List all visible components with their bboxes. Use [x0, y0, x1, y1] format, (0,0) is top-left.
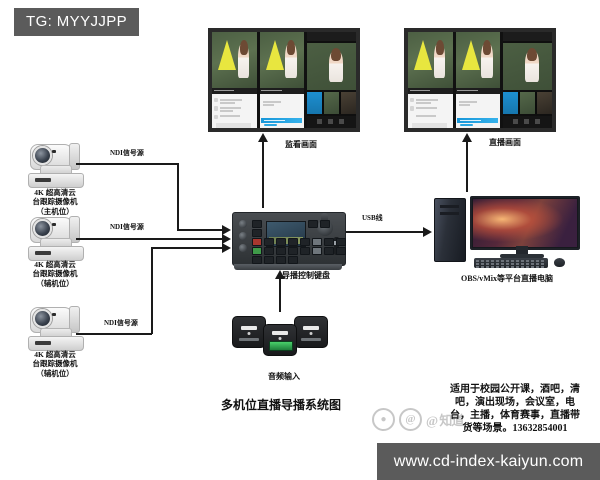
camera-main: [22, 142, 86, 188]
tg-tag-badge: TG: MYYJJPP: [14, 8, 139, 36]
preview-wall-left-cols: [212, 32, 304, 128]
pc-tower: [434, 198, 466, 262]
mic-receiver: [263, 324, 297, 356]
switcher-button[interactable]: [276, 256, 286, 264]
doc-line: [416, 102, 431, 104]
pane-bottom-bar: [307, 116, 356, 128]
switcher-button[interactable]: [288, 256, 298, 264]
switcher-button-row-5[interactable]: [252, 256, 298, 264]
yellow-triangle-graphic: [462, 40, 480, 70]
switcher-button[interactable]: [308, 220, 318, 228]
switcher-button[interactable]: [264, 256, 274, 264]
presenter-figure: [525, 50, 540, 82]
switcher-knob: [239, 232, 247, 240]
pane-document-area: [260, 94, 305, 128]
usb-line: [346, 231, 424, 233]
switcher-program-button[interactable]: [252, 238, 262, 246]
yellow-triangle-graphic: [218, 40, 236, 70]
broadcast-control-keyboard: [232, 208, 344, 270]
switcher-button[interactable]: [300, 238, 310, 246]
presenter-figure: [481, 43, 493, 78]
camera-base: [28, 173, 84, 188]
doc-line: [220, 107, 241, 109]
pane-blue-banner: [261, 118, 302, 123]
mic-brand-plate: [303, 326, 319, 330]
pane-thumbnail-strip: [503, 92, 552, 113]
switcher-preview-button[interactable]: [252, 247, 262, 255]
mic-display-window: [269, 341, 293, 351]
diagram-canvas: TG: MYYJJPP: [0, 0, 600, 480]
doc-line: [220, 110, 233, 112]
camera-base: [28, 336, 84, 351]
switcher-button-row-2[interactable]: [252, 229, 262, 237]
presenter-figure: [434, 43, 446, 78]
mic-strip: [239, 338, 259, 341]
pane-top-bar: [307, 32, 356, 41]
pane-main-video: [307, 43, 356, 91]
at-symbol-icon: @: [399, 408, 422, 431]
doc-line: [220, 102, 235, 104]
doc-line: [220, 99, 242, 101]
baidu-watermark: ● @ @ 知道: [372, 404, 476, 434]
camera-base: [28, 246, 84, 261]
mic-brand-plate: [241, 326, 257, 330]
switcher-button[interactable]: [312, 247, 322, 255]
usb-link-label: USB线: [362, 213, 383, 223]
thumb-dark: [537, 92, 552, 113]
doc-line: [459, 104, 470, 106]
preview-feed-line: [262, 140, 264, 208]
switcher-button[interactable]: [276, 247, 286, 255]
camera-lens-icon: [33, 146, 52, 165]
pane-bottom-bar: [503, 116, 552, 128]
pane-document-area: [408, 94, 453, 128]
live-feed-line: [466, 140, 468, 192]
pane-top-bar: [503, 32, 552, 41]
preview-pane-1: [212, 32, 257, 128]
pane-video-area: [456, 32, 501, 88]
pc-mouse: [554, 258, 565, 267]
thumb-blue: [503, 92, 518, 113]
pane-main-video: [503, 43, 552, 91]
switcher-button[interactable]: [252, 229, 262, 237]
doc-line: [263, 101, 281, 103]
pane-playback-bar: [456, 88, 501, 95]
ndi-line-3-v: [151, 248, 153, 334]
baidu-watermark-text: @ 知道: [426, 410, 463, 429]
presenter-figure: [238, 43, 250, 78]
mic-right: [294, 316, 328, 348]
footer-note-line-1: 适用于校园公开课，酒吧，清: [432, 384, 598, 397]
pane-video-area: [212, 32, 257, 88]
switcher-button[interactable]: [288, 238, 298, 246]
pane-document-area: [456, 94, 501, 128]
live-pane-2: [456, 32, 501, 128]
baidu-paw-icon: ●: [372, 408, 395, 431]
camera-led-icon: [52, 313, 56, 316]
preview-pane-2: [260, 32, 305, 128]
yellow-triangle-graphic: [266, 40, 284, 70]
ndi-link-label-3: NDI信号源: [104, 318, 138, 328]
streaming-computer-label: OBS/vMix等平台直播电脑: [436, 274, 578, 284]
ndi-line-1-v: [177, 163, 179, 230]
keyboard-row: [476, 260, 546, 262]
camera-main-label: 4K 超高清云 台跟踪摄像机 （主机位）: [8, 188, 102, 216]
switcher-button-row-top[interactable]: [308, 220, 330, 228]
camera-sub-2-label: 4K 超高清云 台跟踪摄像机 （辅机位）: [8, 350, 102, 378]
pane-playback-bar: [212, 88, 257, 95]
switcher-button[interactable]: [336, 238, 346, 246]
yellow-triangle-graphic: [414, 40, 432, 70]
doc-line: [220, 115, 240, 117]
preview-feed-arrow: [258, 133, 268, 142]
camera-led-icon: [52, 150, 56, 153]
doc-thumb: [214, 115, 218, 119]
presenter-figure: [285, 43, 297, 78]
preview-wall-grid: [212, 32, 356, 128]
doc-thumb: [214, 98, 218, 102]
switcher-base: [234, 264, 342, 270]
pane-playback-bar: [260, 88, 305, 95]
preview-monitor-label: 监看画面: [266, 140, 336, 150]
doc-line: [459, 101, 477, 103]
switcher-button[interactable]: [276, 238, 286, 246]
pc-monitor: [470, 196, 580, 250]
doc-thumb: [214, 106, 218, 110]
streaming-computer: [430, 192, 580, 270]
thumb-blue: [307, 92, 322, 113]
camera-lens-icon: [33, 219, 52, 238]
switcher-button[interactable]: [312, 238, 322, 246]
cloud-logo-icon: [264, 124, 277, 126]
pc-monitor-wallpaper: [473, 199, 577, 247]
ndi-line-2-h: [76, 238, 223, 240]
thumb-dark: [341, 92, 356, 113]
doc-footer: [216, 123, 251, 128]
camera-sub-2: [22, 305, 86, 351]
doc-line: [416, 107, 437, 109]
camera-led-icon: [52, 223, 56, 226]
switcher-button-row-4[interactable]: [252, 247, 346, 255]
audio-to-switcher-line: [279, 278, 281, 312]
switcher-button[interactable]: [252, 256, 262, 264]
doc-line: [263, 104, 274, 106]
mic-brand-plate: [272, 331, 288, 335]
preview-monitor-wall: [208, 28, 360, 132]
ndi-line-1-h: [76, 163, 178, 165]
audio-to-switcher-arrow: [275, 270, 285, 279]
mic-strip: [301, 338, 321, 341]
switcher-button[interactable]: [300, 247, 310, 255]
audio-input-microphones: [232, 312, 336, 362]
cloud-logo-icon: [460, 124, 473, 126]
switcher-button[interactable]: [324, 238, 334, 246]
switcher-button[interactable]: [288, 247, 298, 255]
ndi-link-label-1: NDI信号源: [110, 148, 144, 158]
ndi-link-label-2: NDI信号源: [110, 222, 144, 232]
pane-document-area: [212, 94, 257, 128]
switcher-button[interactable]: [252, 220, 262, 228]
doc-thumb: [410, 106, 414, 110]
switcher-knob: [239, 244, 247, 252]
keyboard-row: [476, 266, 546, 268]
live-wall-grid: [408, 32, 552, 128]
thumb-green: [520, 92, 535, 113]
ndi-line-3-h2: [151, 247, 223, 249]
audio-input-label: 音频输入: [244, 372, 324, 382]
mic-led-icon: [310, 332, 313, 335]
pane-video-area: [408, 32, 453, 88]
pane-thumbnail-strip: [307, 92, 356, 113]
pane-blue-banner: [457, 118, 498, 123]
switcher-button[interactable]: [264, 247, 274, 255]
ndi-line-3-h: [76, 333, 152, 335]
switcher-knob: [239, 220, 247, 228]
doc-thumb: [410, 98, 414, 102]
switcher-label: 导播控制键盘: [282, 271, 362, 281]
live-pane-3: [503, 32, 552, 128]
doc-line: [416, 99, 438, 101]
switcher-button-row-3[interactable]: [252, 238, 346, 246]
camera-lens-icon: [33, 309, 52, 328]
pane-video-area: [260, 32, 305, 88]
camera-sub-1-label: 4K 超高清云 台跟踪摄像机 （辅机位）: [8, 260, 102, 288]
switcher-button[interactable]: [264, 238, 274, 246]
switcher-button-row-1[interactable]: [252, 220, 262, 228]
ndi-line-1-h2: [177, 229, 223, 231]
preview-pane-3: [307, 32, 356, 128]
switcher-button[interactable]: [336, 247, 346, 255]
switcher-button[interactable]: [320, 220, 330, 228]
mic-left: [232, 316, 266, 348]
mic-led-icon: [279, 337, 282, 340]
mic-led-icon: [248, 332, 251, 335]
doc-line: [416, 115, 436, 117]
presenter-figure: [329, 50, 344, 82]
doc-footer: [412, 123, 447, 128]
pc-keyboard: [474, 258, 548, 268]
page-title: 多机位直播导播系统图: [206, 398, 356, 413]
ndi-arrow-3: [222, 243, 231, 253]
live-feed-arrow: [462, 133, 472, 142]
switcher-body: [232, 212, 346, 266]
live-wall-left-cols: [408, 32, 500, 128]
keyboard-row: [476, 263, 546, 265]
live-monitor-wall: [404, 28, 556, 132]
live-pane-1: [408, 32, 453, 128]
url-watermark-bar: www.cd-index-kaiyun.com: [377, 443, 600, 480]
pane-playback-bar: [408, 88, 453, 95]
live-monitor-label: 直播画面: [470, 138, 540, 148]
thumb-green: [324, 92, 339, 113]
switcher-button[interactable]: [324, 247, 334, 255]
